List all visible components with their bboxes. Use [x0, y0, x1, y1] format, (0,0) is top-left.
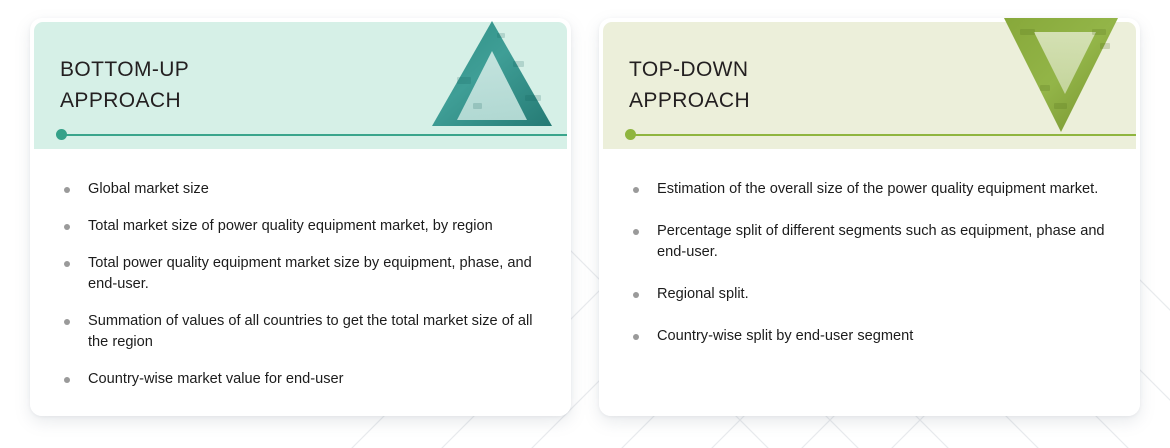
- approach-card-bottom-up: BOTTOM-UP APPROACH: [30, 18, 571, 416]
- triangle-up-icon: [427, 18, 557, 149]
- list-item: Global market size: [56, 179, 545, 200]
- list-item: Regional split.: [625, 284, 1114, 305]
- infographic-stage: BOTTOM-UP APPROACH: [0, 0, 1170, 448]
- list-item: Country-wise market value for end-user: [56, 369, 545, 390]
- card-header-bottom-up: BOTTOM-UP APPROACH: [34, 22, 567, 149]
- card-body-bottom-up: Global market size Total market size of …: [30, 149, 571, 416]
- list-item: Estimation of the overall size of the po…: [625, 179, 1114, 200]
- card-title-bottom-up: BOTTOM-UP APPROACH: [60, 54, 189, 116]
- list-item: Country-wise split by end-user segment: [625, 326, 1114, 347]
- list-item: Percentage split of different segments s…: [625, 221, 1114, 263]
- bullet-list-top-down: Estimation of the overall size of the po…: [625, 179, 1114, 347]
- card-body-top-down: Estimation of the overall size of the po…: [599, 149, 1140, 416]
- card-header-top-down: TOP-DOWN APPROACH: [603, 22, 1136, 149]
- triangle-down-icon: [996, 18, 1126, 149]
- header-dot-top-down: [625, 129, 636, 140]
- header-rule-top-down: [629, 134, 1136, 136]
- list-item: Total power quality equipment market siz…: [56, 253, 545, 295]
- card-title-top-down: TOP-DOWN APPROACH: [629, 54, 750, 116]
- list-item: Total market size of power quality equip…: [56, 216, 545, 237]
- approach-card-top-down: TOP-DOWN APPROACH: [599, 18, 1140, 416]
- header-rule-bottom-up: [60, 134, 567, 136]
- header-dot-bottom-up: [56, 129, 67, 140]
- bullet-list-bottom-up: Global market size Total market size of …: [56, 179, 545, 390]
- card-row: BOTTOM-UP APPROACH: [0, 0, 1170, 448]
- list-item: Summation of values of all countries to …: [56, 311, 545, 353]
